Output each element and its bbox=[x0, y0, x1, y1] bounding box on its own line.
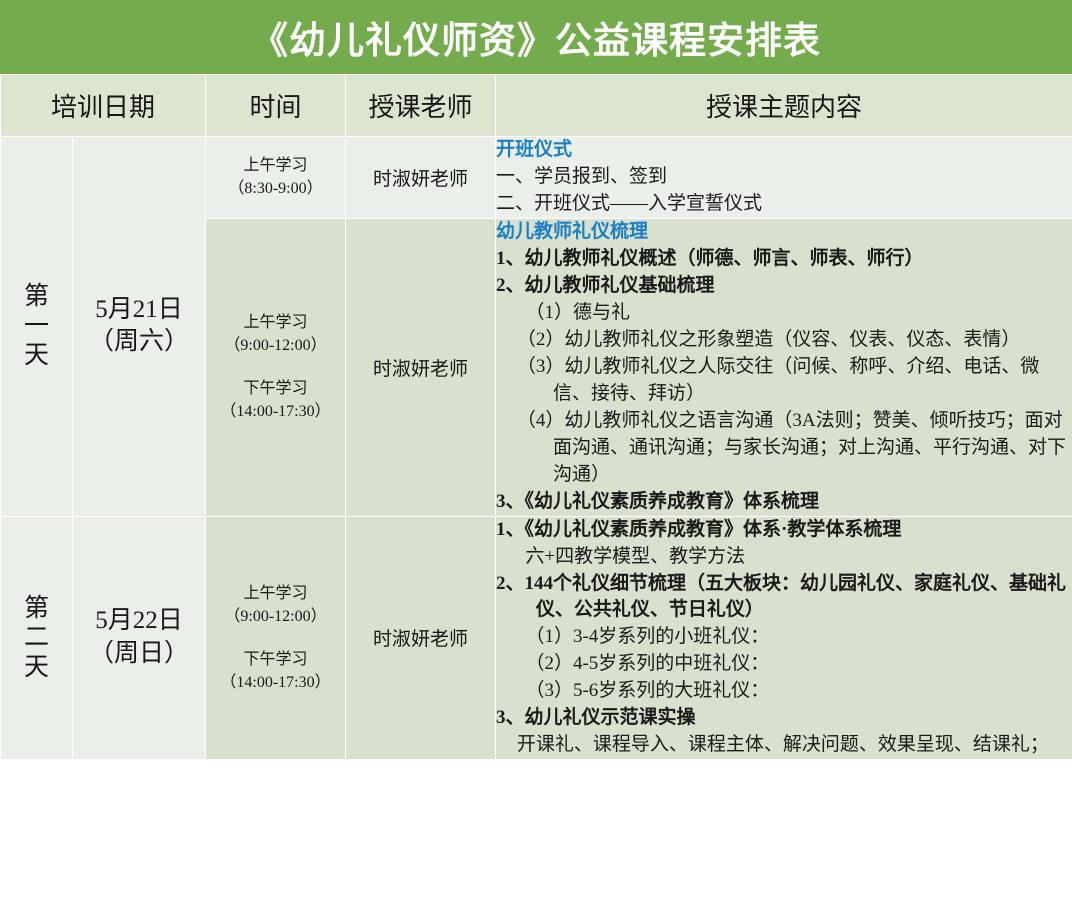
column-header-topic: 授课主题内容 bbox=[496, 75, 1072, 137]
title-bar: 《幼儿礼仪师资》公益课程安排表 bbox=[0, 0, 1072, 74]
topic-line: 一、学员报到、签到 bbox=[496, 164, 1072, 191]
day-char: 第 bbox=[1, 594, 72, 624]
date-weekday: （周六） bbox=[73, 326, 205, 359]
date-line: 5月21日 bbox=[73, 294, 205, 327]
page-title: 《幼儿礼仪师资》公益课程安排表 bbox=[251, 10, 821, 64]
day-char: 一 bbox=[1, 312, 72, 342]
table-row: 第 二 天 5月22日 （周日） 上午学习 （9:00-12:00） 下午学习 … bbox=[1, 516, 1072, 760]
time-range: （9:00-12:00） bbox=[206, 334, 345, 357]
time-label: 上午学习 bbox=[206, 154, 345, 177]
topic-subline: （3）幼儿教师礼仪之人际交往（问候、称呼、介绍、电话、微信、接待、拜访） bbox=[496, 354, 1072, 408]
topic-heading: 幼儿教师礼仪梳理 bbox=[496, 219, 1072, 246]
topic-line: 3、《幼儿礼仪素质养成教育》体系梳理 bbox=[496, 489, 1072, 516]
time-range: （8:30-9:00） bbox=[206, 177, 345, 200]
column-header-teacher: 授课老师 bbox=[346, 75, 496, 137]
topic-line: 3、幼儿礼仪示范课实操 bbox=[496, 705, 1072, 732]
day-char: 天 bbox=[1, 653, 72, 683]
topic-subline: （2）幼儿教师礼仪之形象塑造（仪容、仪表、仪态、表情） bbox=[496, 327, 1072, 354]
time-cell-1: 上午学习 （8:30-9:00） bbox=[206, 137, 346, 219]
topic-cell-1: 开班仪式 一、学员报到、签到 二、开班仪式——入学宣誓仪式 bbox=[496, 137, 1072, 219]
teacher-cell-3: 时淑妍老师 bbox=[346, 516, 496, 760]
time-range: （14:00-17:30） bbox=[206, 400, 345, 423]
topic-cell-3: 1、《幼儿礼仪素质养成教育》体系·教学体系梳理 六+四教学模型、教学方法 2、1… bbox=[496, 516, 1072, 760]
time-cell-3: 上午学习 （9:00-12:00） 下午学习 （14:00-17:30） bbox=[206, 516, 346, 760]
schedule-sheet: 《幼儿礼仪师资》公益课程安排表 培训日期 时间 授课老师 授课主题内容 第 一 … bbox=[0, 0, 1072, 899]
date-weekday: （周日） bbox=[73, 638, 205, 671]
day-char: 天 bbox=[1, 341, 72, 371]
date-line: 5月22日 bbox=[73, 605, 205, 638]
day-char: 第 bbox=[1, 282, 72, 312]
topic-subline: （1）德与礼 bbox=[496, 300, 1072, 327]
topic-heading: 开班仪式 bbox=[496, 137, 1072, 164]
topic-line: 二、开班仪式——入学宣誓仪式 bbox=[496, 191, 1072, 218]
topic-line: 2、幼儿教师礼仪基础梳理 bbox=[496, 273, 1072, 300]
time-range: （9:00-12:00） bbox=[206, 605, 345, 628]
table-header-row: 培训日期 时间 授课老师 授课主题内容 bbox=[1, 75, 1072, 137]
topic-line: 1、《幼儿礼仪素质养成教育》体系·教学体系梳理 bbox=[496, 517, 1072, 544]
date-cell-2: 5月22日 （周日） bbox=[73, 516, 206, 760]
topic-subline: （2）4-5岁系列的中班礼仪： bbox=[496, 651, 1072, 678]
time-range: （14:00-17:30） bbox=[206, 671, 345, 694]
teacher-cell-2: 时淑妍老师 bbox=[346, 218, 496, 516]
column-header-time: 时间 bbox=[206, 75, 346, 137]
date-cell-1: 5月21日 （周六） bbox=[73, 137, 206, 517]
time-gap bbox=[206, 357, 345, 377]
topic-subline: 六+四教学模型、教学方法 bbox=[496, 544, 1072, 571]
day-number-cell-2: 第 二 天 bbox=[1, 516, 73, 760]
topic-subline: 开课礼、课程导入、课程主体、解决问题、效果呈现、结课礼； bbox=[496, 732, 1072, 759]
topic-line: 1、幼儿教师礼仪概述（师德、师言、师表、师行） bbox=[496, 246, 1072, 273]
time-gap bbox=[206, 628, 345, 648]
column-header-date: 培训日期 bbox=[1, 75, 206, 137]
topic-subline: （1）3-4岁系列的小班礼仪： bbox=[496, 624, 1072, 651]
day-number-cell-1: 第 一 天 bbox=[1, 137, 73, 517]
topic-line: 2、144个礼仪细节梳理（五大板块：幼儿园礼仪、家庭礼仪、基础礼仪、公共礼仪、节… bbox=[496, 571, 1072, 625]
teacher-cell-1: 时淑妍老师 bbox=[346, 137, 496, 219]
topic-cell-2: 幼儿教师礼仪梳理 1、幼儿教师礼仪概述（师德、师言、师表、师行） 2、幼儿教师礼… bbox=[496, 218, 1072, 516]
time-label: 下午学习 bbox=[206, 377, 345, 400]
topic-subline: （3）5-6岁系列的大班礼仪： bbox=[496, 678, 1072, 705]
day-char: 二 bbox=[1, 623, 72, 653]
time-cell-2: 上午学习 （9:00-12:00） 下午学习 （14:00-17:30） bbox=[206, 218, 346, 516]
time-label: 下午学习 bbox=[206, 648, 345, 671]
schedule-table: 培训日期 时间 授课老师 授课主题内容 第 一 天 5月21日 （周六） 上午学… bbox=[0, 74, 1072, 760]
time-label: 上午学习 bbox=[206, 582, 345, 605]
topic-subline: （4）幼儿教师礼仪之语言沟通（3A法则；赞美、倾听技巧；面对面沟通、通讯沟通；与… bbox=[496, 408, 1072, 489]
table-row: 第 一 天 5月21日 （周六） 上午学习 （8:30-9:00） 时淑妍老师 … bbox=[1, 137, 1072, 219]
time-label: 上午学习 bbox=[206, 311, 345, 334]
